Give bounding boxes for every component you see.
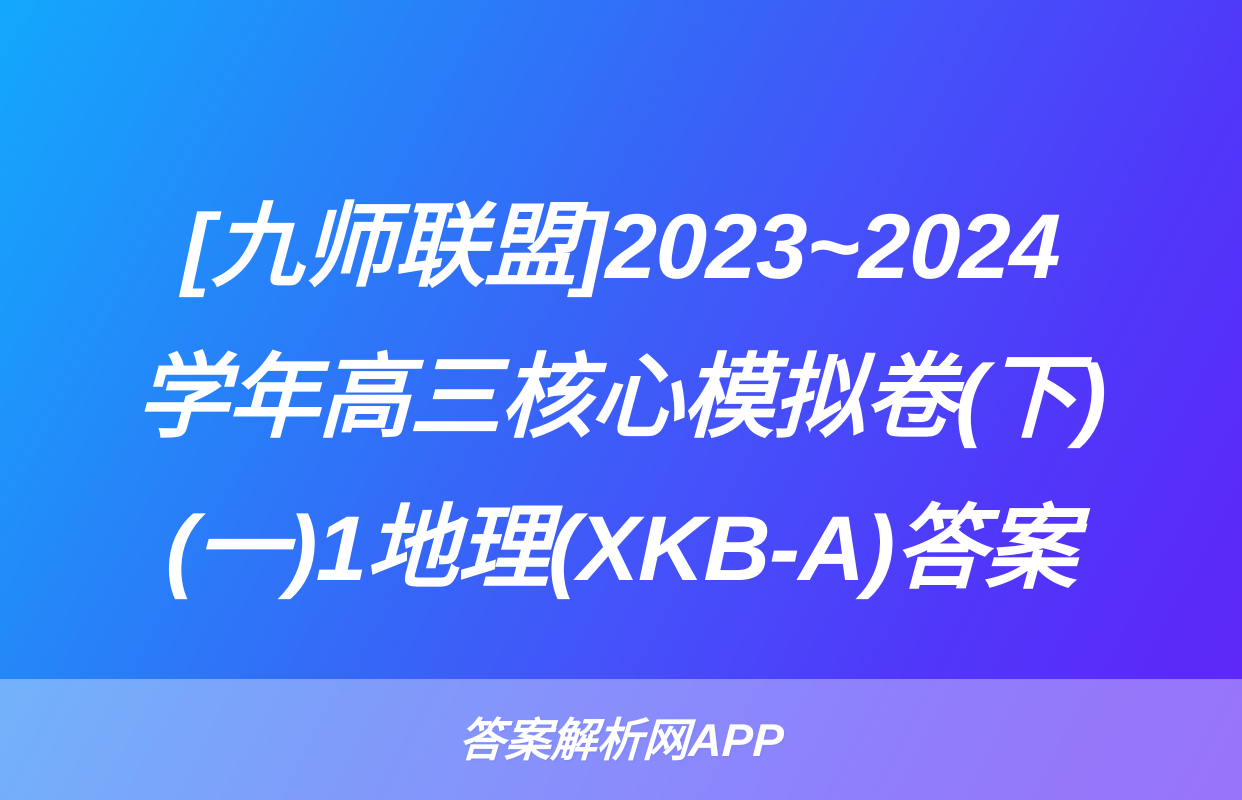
exam-answer-banner-card: [九师联盟]2023~2024 学年高三核心模拟卷(下) (一)1地理(XKB-… xyxy=(0,0,1242,800)
watermark-app-name: 答案解析网APP xyxy=(457,717,784,763)
title-line-3: (一)1地理(XKB-A)答案 xyxy=(35,474,1208,625)
title-line-2: 学年高三核心模拟卷(下) xyxy=(35,323,1208,474)
page-title: [九师联盟]2023~2024 学年高三核心模拟卷(下) (一)1地理(XKB-… xyxy=(0,172,1242,625)
watermark-band: 答案解析网APP xyxy=(0,679,1242,800)
title-line-1: [九师联盟]2023~2024 xyxy=(35,172,1208,323)
